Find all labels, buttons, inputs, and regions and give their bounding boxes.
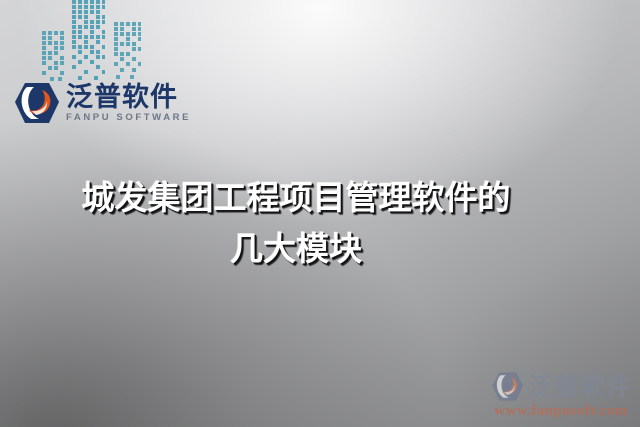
fanpu-hexagon-swoosh-mark-icon [12, 81, 60, 125]
brand-wordmark: 泛普软件 FANPU SOFTWARE [66, 84, 191, 123]
slide-canvas: 泛普软件 FANPU SOFTWARE 城发集团工程项目管理软件的 几大模块 泛… [0, 0, 640, 427]
watermark-brand-name: 泛普软件 [528, 374, 632, 399]
pixel-mosaic-city-skyline [34, 0, 146, 86]
brand-name-en: FANPU SOFTWARE [66, 113, 191, 123]
watermark-logo-row: 泛普软件 [490, 371, 632, 402]
watermark: 泛普软件 www.fanpusoft.com [490, 371, 632, 420]
fanpu-hexagon-swoosh-mark-icon [490, 371, 524, 402]
brand-name-cn: 泛普软件 [66, 84, 191, 111]
page-title: 城发集团工程项目管理软件的 几大模块 [36, 172, 556, 274]
brand-logo: 泛普软件 FANPU SOFTWARE [12, 81, 191, 125]
watermark-url: www.fanpusoft.com [494, 403, 627, 420]
